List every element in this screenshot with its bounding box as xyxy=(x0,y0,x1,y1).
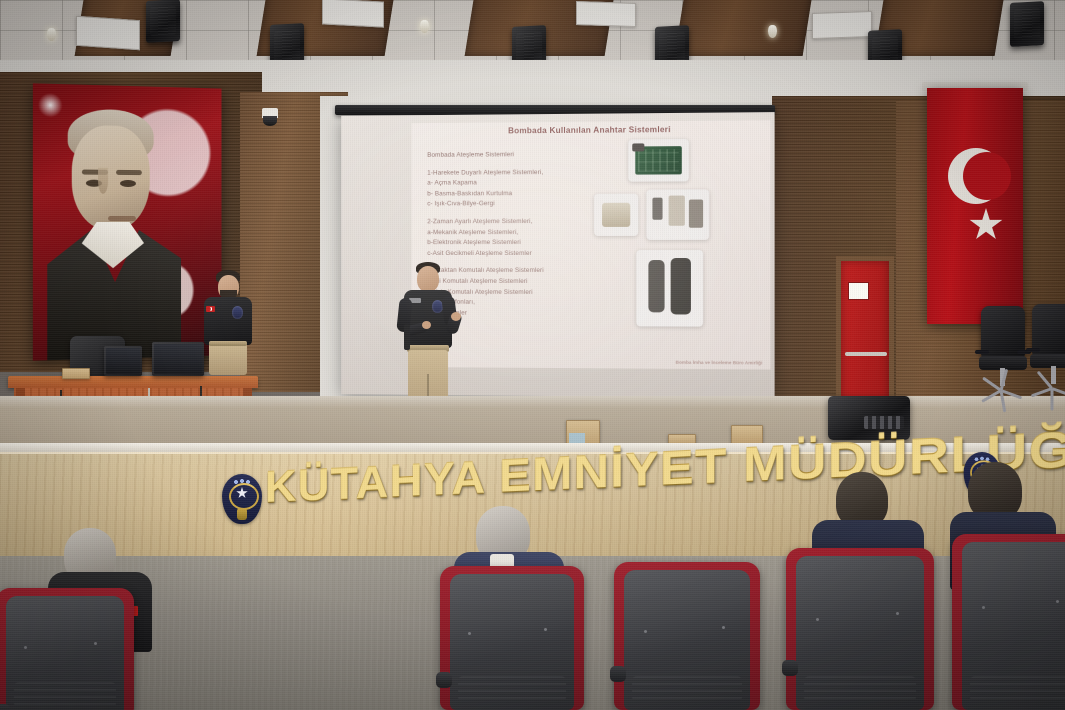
ceiling-speaker xyxy=(1010,1,1044,47)
exit-door-push-bar[interactable] xyxy=(845,352,887,356)
slide-image-detail xyxy=(689,199,703,227)
police-badge-emblem-left xyxy=(222,474,262,524)
slide-image-block xyxy=(594,194,638,236)
portrait-nose xyxy=(98,168,108,194)
portrait-face xyxy=(72,125,150,230)
auditorium-seat[interactable] xyxy=(786,548,934,710)
ceiling-downlight xyxy=(420,20,429,33)
exit-door-window xyxy=(848,282,869,300)
desk-small-box xyxy=(62,368,90,379)
slide-image-detail xyxy=(671,258,691,314)
police-emblem-icon xyxy=(232,306,243,319)
ceiling-light-panel xyxy=(76,16,140,50)
slide-image-detail xyxy=(669,196,685,226)
slide-title: Bombada Kullanılan Anahtar Sistemleri xyxy=(412,124,771,136)
presenter-right-hand xyxy=(451,312,461,321)
presenter-head xyxy=(417,266,439,292)
laptop-open[interactable] xyxy=(152,342,204,376)
chair-base xyxy=(979,384,1027,398)
ceiling-speaker xyxy=(146,0,180,43)
flag-star-icon xyxy=(969,208,1003,242)
chair-base xyxy=(1030,382,1065,396)
portrait-eye xyxy=(120,180,136,187)
executive-chair[interactable] xyxy=(975,306,1031,404)
ceiling-wood-beam xyxy=(675,0,814,56)
slide-line: c-Asit Gecikmeli Ateşleme Sistemler xyxy=(427,249,636,260)
slide-image-detail xyxy=(652,198,662,220)
slide-image-circuit xyxy=(628,139,689,182)
ataturk-banner xyxy=(33,83,222,360)
assistant-torso xyxy=(204,297,252,345)
laptop-screen xyxy=(106,348,140,374)
presenter-left-hand xyxy=(422,321,431,329)
executive-chair[interactable] xyxy=(1026,304,1065,402)
slide-footer: Bomba İmha ve İnceleme Büro Amirliği xyxy=(676,360,763,366)
assistant-trousers xyxy=(209,343,247,375)
portrait-mouth xyxy=(108,216,136,221)
slide-image-devices xyxy=(646,189,709,240)
slide-image-detail xyxy=(602,203,630,227)
slide-image-detonators xyxy=(636,250,703,327)
banner-light-reflection xyxy=(37,92,64,119)
slide-image-detail xyxy=(632,143,644,151)
slide-line: b-Elektronik Ateşleme Sistemleri xyxy=(427,238,636,249)
assistant-belt xyxy=(209,341,247,346)
presenter-shoulder-strap xyxy=(404,324,410,350)
assistant-officer xyxy=(200,270,256,375)
auditorium-seat[interactable] xyxy=(0,588,134,710)
laptop-second[interactable] xyxy=(104,346,142,376)
exit-door[interactable] xyxy=(841,261,889,404)
ataturk-portrait xyxy=(51,108,175,360)
ceiling-light-panel xyxy=(576,1,636,27)
dome-camera-icon xyxy=(263,116,277,126)
ceiling-downlight xyxy=(768,25,777,38)
ceiling-light-panel xyxy=(812,11,872,39)
slide-image-detail xyxy=(648,260,664,312)
auditorium-seat[interactable] xyxy=(952,534,1065,710)
turkish-flag xyxy=(927,88,1023,324)
ceiling-light-panel xyxy=(322,0,384,28)
conference-hall-photo: Bombada Kullanılan Anahtar Sistemleri Bo… xyxy=(0,0,1065,710)
laptop-screen xyxy=(154,344,202,374)
flag-crescent-icon xyxy=(948,148,1004,204)
presentation-slide: Bombada Kullanılan Anahtar Sistemleri Bo… xyxy=(412,120,771,369)
ceiling-downlight xyxy=(47,28,56,41)
auditorium-seat[interactable] xyxy=(614,562,760,710)
turkish-flag-patch-icon xyxy=(206,306,215,312)
portrait-brow xyxy=(116,170,142,175)
auditorium-seat[interactable] xyxy=(440,566,584,710)
